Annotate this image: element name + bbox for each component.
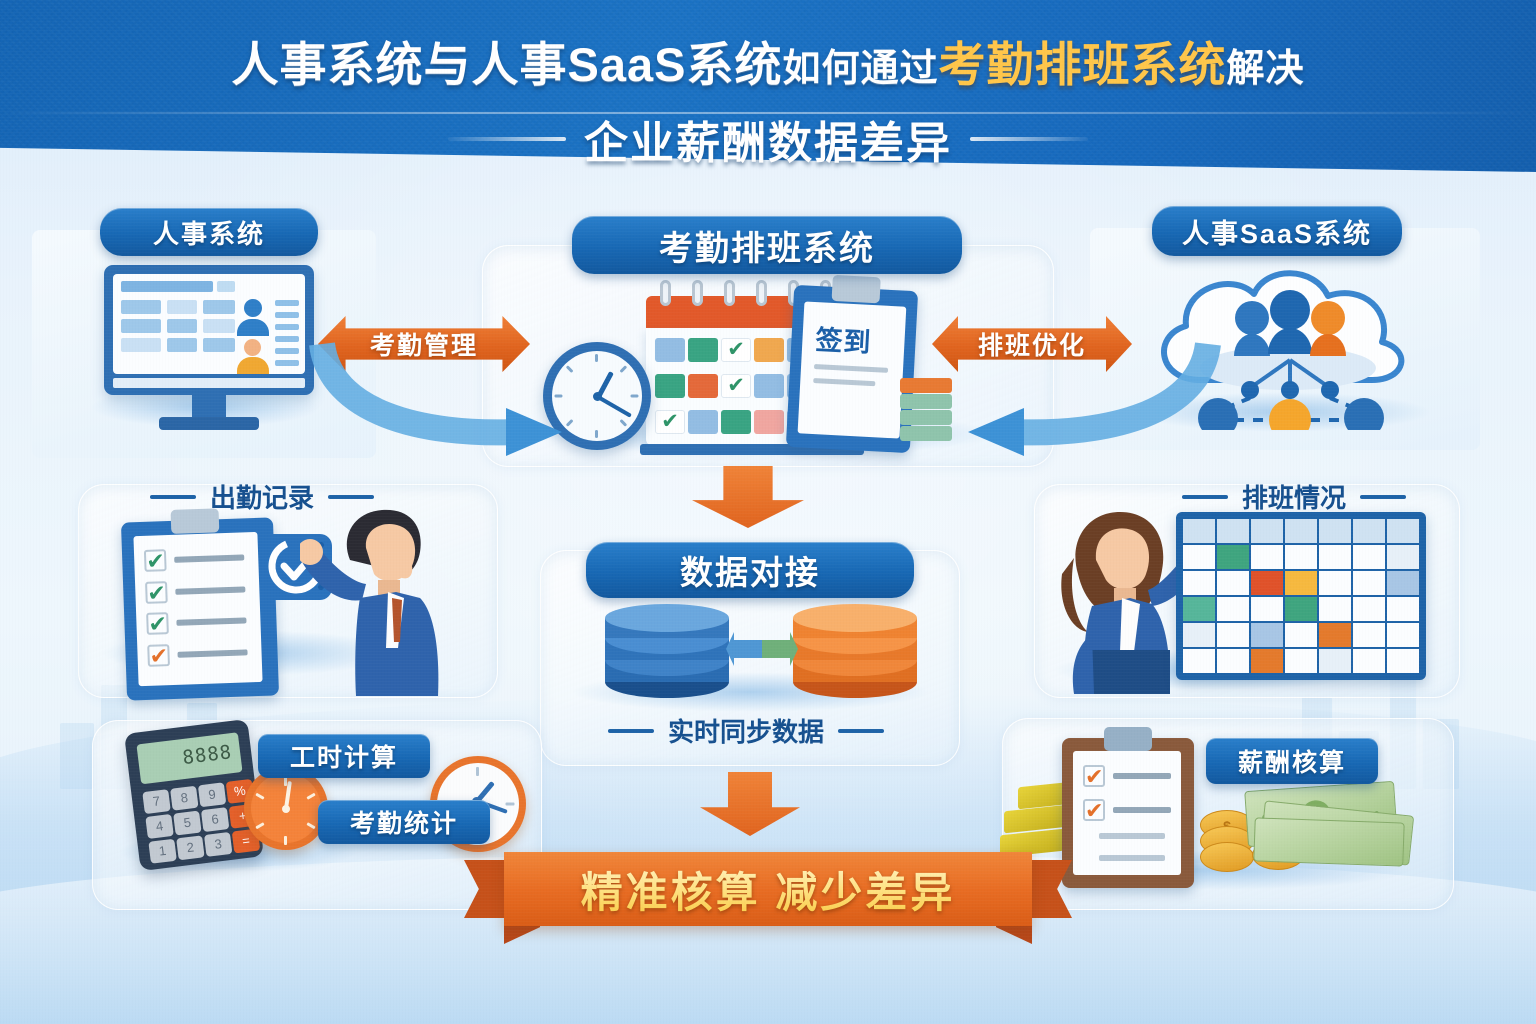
schedule-cell[interactable] bbox=[1387, 571, 1419, 595]
avatar-head-orange bbox=[244, 339, 261, 356]
calculator-key[interactable]: 5 bbox=[173, 811, 201, 836]
conclusion-ribbon: 精准核算 减少差异 bbox=[468, 852, 1068, 926]
checklist-line bbox=[174, 554, 244, 562]
schedule-cell[interactable] bbox=[1353, 597, 1385, 621]
calculator-key[interactable]: 6 bbox=[201, 807, 229, 832]
subtitle-rule-right bbox=[970, 137, 1088, 141]
screen-detail-line bbox=[275, 312, 299, 318]
database-right bbox=[790, 604, 920, 702]
screen-table-cell bbox=[203, 300, 235, 314]
clock-tick bbox=[595, 430, 598, 438]
calendar-check-mark: ✔ bbox=[655, 410, 685, 434]
calculator-key[interactable]: 9 bbox=[198, 782, 226, 807]
schedule-cell[interactable] bbox=[1319, 649, 1351, 673]
schedule-cell[interactable] bbox=[1353, 649, 1385, 673]
calendar-day-cell bbox=[754, 374, 784, 398]
clock-tick bbox=[566, 365, 574, 373]
schedule-cell[interactable] bbox=[1285, 571, 1317, 595]
screen-detail-line bbox=[275, 348, 299, 354]
database-left bbox=[602, 604, 732, 702]
checklist-line bbox=[1113, 773, 1171, 779]
page-title-line1: 人事系统与人事SaaS系统如何通过考勤排班系统解决 bbox=[0, 26, 1536, 95]
badge-attendance-statistics[interactable]: 考勤统计 bbox=[318, 800, 490, 844]
caption-rule-right bbox=[838, 729, 884, 733]
clock-tick bbox=[595, 354, 598, 362]
schedule-cell[interactable] bbox=[1319, 519, 1351, 543]
calendar-day-cell bbox=[721, 410, 751, 434]
calendar-day-cell bbox=[655, 374, 685, 398]
schedule-cell[interactable] bbox=[1251, 519, 1283, 543]
subtitle-rule-left bbox=[448, 137, 566, 141]
checklist-line bbox=[175, 586, 245, 594]
clipboard-line bbox=[814, 364, 888, 373]
calculator[interactable]: 8888 789%456+123= bbox=[124, 719, 264, 871]
bidirectional-sync-arrow bbox=[724, 622, 800, 676]
schedule-cell[interactable] bbox=[1251, 623, 1283, 647]
schedule-cell[interactable] bbox=[1217, 519, 1249, 543]
screen-table-cell bbox=[203, 319, 235, 333]
title-part2: 系统 bbox=[686, 38, 782, 91]
screen-table-cell bbox=[121, 338, 161, 352]
schedule-cell[interactable] bbox=[1251, 571, 1283, 595]
cloud-shadow bbox=[1132, 392, 1432, 432]
checklist-line bbox=[176, 617, 246, 625]
payroll-clipboard: ✔✔ bbox=[1062, 738, 1194, 888]
clock-tick bbox=[555, 395, 563, 398]
schedule-cell[interactable] bbox=[1353, 545, 1385, 569]
screen-table-cell bbox=[167, 338, 197, 352]
clipboard-paper: 签到 bbox=[798, 301, 907, 438]
clipboard-clamp bbox=[832, 275, 881, 303]
caption-rule-left bbox=[608, 729, 654, 733]
clock-tick bbox=[476, 767, 479, 776]
banknote bbox=[1253, 817, 1404, 866]
calendar-ring bbox=[724, 280, 735, 306]
clock-tick bbox=[506, 803, 515, 806]
calendar-day-cell bbox=[754, 410, 784, 434]
attendance-checklist-clipboard: ✔✔✔✔ bbox=[121, 517, 279, 700]
checklist-checkbox: ✔ bbox=[144, 549, 167, 572]
schedule-cell[interactable] bbox=[1285, 545, 1317, 569]
gauge-face bbox=[251, 773, 321, 843]
calendar-day-cell bbox=[754, 338, 784, 362]
subtitle-row: 企业薪酬数据差异 bbox=[0, 107, 1536, 171]
badge-data-integration[interactable]: 数据对接 bbox=[586, 542, 914, 598]
caption-realtime-sync-text: 实时同步数据 bbox=[668, 712, 824, 749]
schedule-cell[interactable] bbox=[1183, 649, 1215, 673]
checklist-line bbox=[1113, 807, 1171, 813]
schedule-cell[interactable] bbox=[1217, 597, 1249, 621]
calendar-day-cell bbox=[688, 338, 718, 362]
gauge-tick bbox=[255, 793, 264, 800]
monitor-chin bbox=[113, 378, 305, 388]
calculator-key[interactable]: 4 bbox=[145, 814, 173, 839]
calendar-day-cell bbox=[688, 410, 718, 434]
clock-tick bbox=[619, 419, 627, 427]
schedule-cell[interactable] bbox=[1183, 623, 1215, 647]
clock-tick bbox=[566, 419, 574, 427]
clipboard-paper: ✔✔✔✔ bbox=[133, 532, 262, 686]
gauge-tick bbox=[284, 836, 287, 845]
monitor-frame bbox=[104, 265, 314, 395]
schedule-cell[interactable] bbox=[1251, 649, 1283, 673]
schedule-grid-cells bbox=[1183, 519, 1419, 673]
schedule-cell[interactable] bbox=[1387, 597, 1419, 621]
gauge-tick bbox=[255, 822, 264, 829]
schedule-cell[interactable] bbox=[1251, 545, 1283, 569]
ribbon-text: 精准核算 减少差异 bbox=[581, 859, 956, 920]
schedule-cell[interactable] bbox=[1183, 545, 1215, 569]
screen-header-bar-2 bbox=[217, 281, 235, 292]
clipboard-clamp bbox=[171, 508, 220, 534]
title-saas: SaaS bbox=[567, 38, 686, 91]
calculator-key[interactable]: 1 bbox=[148, 839, 176, 864]
caption-rule-left bbox=[1182, 495, 1228, 499]
clipboard-clamp bbox=[1104, 727, 1152, 751]
calendar-check-mark: ✔ bbox=[721, 338, 751, 362]
schedule-cell[interactable] bbox=[1353, 623, 1385, 647]
caption-rule-right bbox=[1360, 495, 1406, 499]
page-subtitle: 企业薪酬数据差异 bbox=[584, 107, 952, 171]
checklist-checkbox: ✔ bbox=[146, 612, 169, 635]
signin-clipboard: 签到 bbox=[786, 285, 918, 453]
clock-face bbox=[552, 351, 642, 441]
title-block: 人事系统与人事SaaS系统如何通过考勤排班系统解决 企业薪酬数据差异 bbox=[0, 26, 1536, 171]
monitor-base bbox=[159, 417, 259, 430]
schedule-cell[interactable] bbox=[1217, 623, 1249, 647]
schedule-cell[interactable] bbox=[1319, 545, 1351, 569]
schedule-cell[interactable] bbox=[1319, 623, 1351, 647]
calendar-day-cell bbox=[655, 338, 685, 362]
schedule-cell[interactable] bbox=[1353, 571, 1385, 595]
schedule-cell[interactable] bbox=[1319, 571, 1351, 595]
monitor-stand bbox=[192, 395, 226, 419]
caption-realtime-sync: 实时同步数据 bbox=[608, 712, 884, 749]
avatar-body-orange bbox=[237, 357, 269, 374]
screen-detail-line bbox=[275, 324, 299, 330]
schedule-cell[interactable] bbox=[1217, 545, 1249, 569]
calendar-ring bbox=[692, 280, 703, 306]
screen-table-cell bbox=[167, 300, 197, 314]
clock-tick bbox=[631, 395, 639, 398]
schedule-cell[interactable] bbox=[1319, 597, 1351, 621]
clipboard-paper: ✔✔ bbox=[1073, 751, 1181, 875]
schedule-cell[interactable] bbox=[1353, 519, 1385, 543]
shift-schedule-grid[interactable] bbox=[1176, 512, 1426, 680]
checklist-checkbox: ✔ bbox=[1083, 765, 1105, 787]
infographic-canvas: 人事系统与人事SaaS系统如何通过考勤排班系统解决 企业薪酬数据差异 bbox=[0, 0, 1536, 1024]
calculator-key[interactable]: 3 bbox=[204, 832, 232, 857]
schedule-cell[interactable] bbox=[1183, 519, 1215, 543]
businessman-figure bbox=[300, 500, 480, 700]
clock-center-pin bbox=[593, 392, 602, 401]
checklist-line bbox=[177, 649, 247, 657]
gauge-tick bbox=[306, 793, 315, 800]
schedule-cell[interactable] bbox=[1285, 649, 1317, 673]
caption-rule-right bbox=[328, 495, 374, 499]
schedule-cell[interactable] bbox=[1251, 597, 1283, 621]
gauge-tick bbox=[306, 822, 315, 829]
calculator-key[interactable]: 2 bbox=[176, 835, 204, 860]
schedule-cell[interactable] bbox=[1285, 519, 1317, 543]
schedule-cell[interactable] bbox=[1183, 571, 1215, 595]
checklist-line bbox=[1099, 833, 1165, 839]
analog-clock-blue bbox=[543, 342, 651, 450]
calendar-ring bbox=[756, 280, 767, 306]
calculator-display: 8888 bbox=[136, 732, 242, 784]
calendar-ring bbox=[660, 280, 671, 306]
document-stack bbox=[900, 378, 952, 442]
schedule-cell[interactable] bbox=[1387, 623, 1419, 647]
checklist-checkbox: ✔ bbox=[145, 581, 168, 604]
caption-attendance-record-text: 出勤记录 bbox=[210, 478, 314, 515]
screen-table-cell bbox=[121, 300, 161, 314]
badge-hr-saas-system[interactable]: 人事SaaS系统 bbox=[1152, 206, 1402, 256]
schedule-cell[interactable] bbox=[1387, 649, 1419, 673]
avatar-head-blue bbox=[244, 299, 262, 317]
badge-payroll-calculation[interactable]: 薪酬核算 bbox=[1206, 738, 1378, 784]
avatar-body-blue bbox=[237, 319, 269, 336]
clock-minute-hand bbox=[597, 395, 632, 417]
schedule-cell[interactable] bbox=[1217, 571, 1249, 595]
ribbon-body: 精准核算 减少差异 bbox=[504, 852, 1032, 926]
schedule-cell[interactable] bbox=[1183, 597, 1215, 621]
screen-detail-line bbox=[275, 360, 299, 366]
checklist-line bbox=[1099, 855, 1165, 861]
title-part4: 解决 bbox=[1226, 48, 1304, 90]
screen-detail-line bbox=[275, 300, 299, 306]
cash-bundle: $ 6 • bbox=[1246, 786, 1418, 864]
monitor-screen bbox=[113, 274, 305, 374]
caption-shift-schedule-text: 排班情况 bbox=[1242, 478, 1346, 515]
calendar-check-mark: ✔ bbox=[721, 374, 751, 398]
schedule-cell[interactable] bbox=[1387, 545, 1419, 569]
badge-hr-system[interactable]: 人事系统 bbox=[100, 208, 318, 256]
screen-header-bar bbox=[121, 281, 213, 292]
schedule-cell[interactable] bbox=[1387, 519, 1419, 543]
schedule-cell[interactable] bbox=[1217, 649, 1249, 673]
badge-work-hours-calculation[interactable]: 工时计算 bbox=[258, 734, 430, 778]
checklist-checkbox: ✔ bbox=[1083, 799, 1105, 821]
gauge-center-pin bbox=[282, 805, 290, 813]
schedule-cell[interactable] bbox=[1285, 597, 1317, 621]
clock-tick bbox=[619, 365, 627, 373]
calculator-key[interactable]: 8 bbox=[170, 786, 198, 811]
title-part1: 人事系统与人事 bbox=[231, 38, 567, 91]
screen-table-cell bbox=[167, 319, 197, 333]
schedule-cell[interactable] bbox=[1285, 623, 1317, 647]
clipboard-line bbox=[813, 378, 875, 386]
checklist-checkbox: ✔ bbox=[147, 644, 170, 667]
calculator-key[interactable]: 7 bbox=[142, 789, 170, 814]
calendar-day-cell bbox=[688, 374, 718, 398]
title-part3: 如何通过 bbox=[782, 48, 938, 90]
orange-gauge-clock bbox=[244, 766, 328, 850]
title-highlight: 考勤排班系统 bbox=[938, 38, 1226, 91]
screen-table-cell bbox=[203, 338, 235, 352]
clipboard-label: 签到 bbox=[815, 318, 873, 360]
screen-table-cell bbox=[121, 319, 161, 333]
caption-rule-left bbox=[150, 495, 196, 499]
screen-detail-line bbox=[275, 336, 299, 342]
badge-attendance-scheduling-system[interactable]: 考勤排班系统 bbox=[572, 216, 962, 274]
